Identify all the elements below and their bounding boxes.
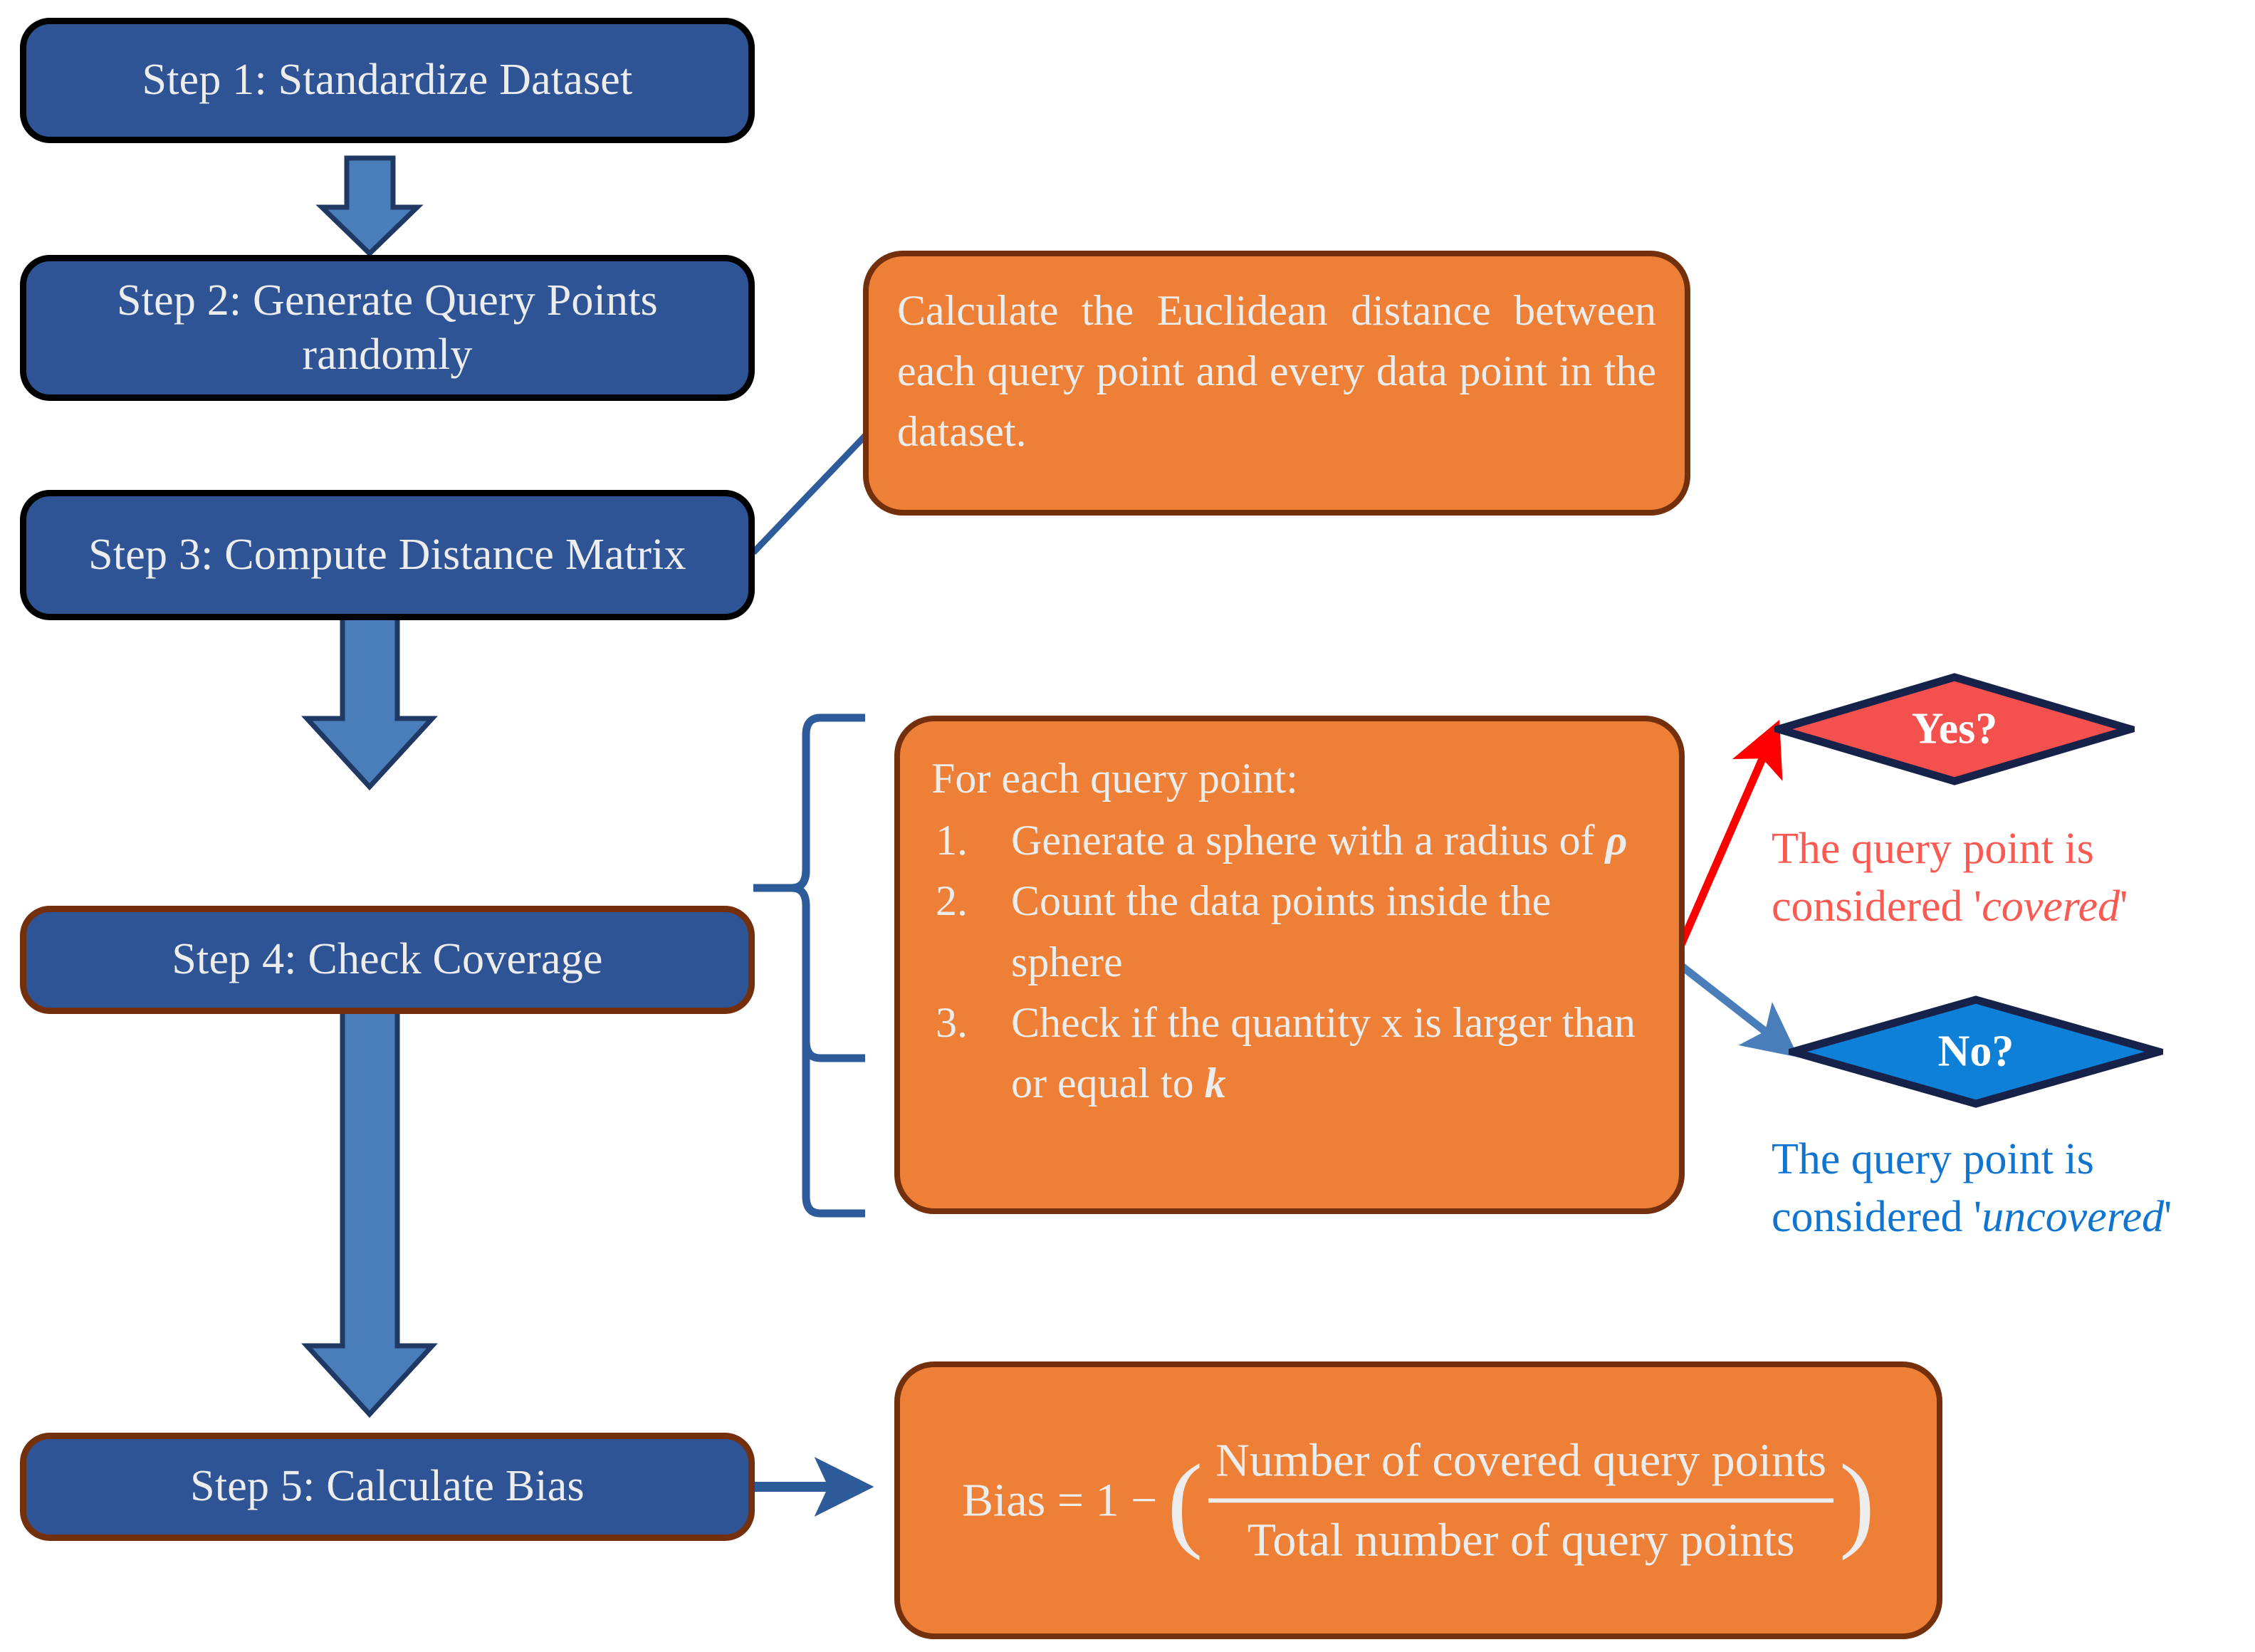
caption-yes-line2: considered 'covered' xyxy=(1772,878,2255,936)
step-5-label: Step 5: Calculate Bias xyxy=(190,1460,585,1514)
bias-formula-open-paren: ( xyxy=(1167,1470,1203,1534)
caption-no: The query point is considered 'uncovered… xyxy=(1772,1131,2255,1245)
step-3-label: Step 3: Compute Distance Matrix xyxy=(88,528,686,582)
bias-formula-close-paren: ) xyxy=(1839,1470,1875,1534)
coverage-item-2-number: 2. xyxy=(936,871,968,931)
caption-no-line2-before: considered ' xyxy=(1772,1193,1982,1241)
step-box-5[interactable]: Step 5: Calculate Bias xyxy=(20,1433,755,1541)
step-4-label: Step 4: Check Coverage xyxy=(172,933,602,987)
coverage-list-item-1: 1. Generate a sphere with a radius of ρ xyxy=(931,810,1648,871)
step-2-label: Step 2: Generate Query Points randomly xyxy=(43,274,731,382)
callout-distance-text: Calculate the Euclidean distance between… xyxy=(869,256,1685,487)
caption-no-line2-after: ' xyxy=(2164,1193,2172,1241)
step-box-3[interactable]: Step 3: Compute Distance Matrix xyxy=(20,490,755,620)
caption-yes-line2-italic: covered xyxy=(1982,882,2120,931)
bias-formula: Bias = 1 − ( Number of covered query poi… xyxy=(900,1427,1937,1573)
caption-yes-line2-before: considered ' xyxy=(1772,882,1982,931)
caption-yes: The query point is considered 'covered' xyxy=(1772,820,2255,935)
coverage-item-3-number: 3. xyxy=(936,993,968,1053)
decision-diamond-yes[interactable]: Yes? xyxy=(1774,673,2135,785)
coverage-list-item-3: 3. Check if the quantity x is larger tha… xyxy=(931,993,1648,1114)
arrow-coverage-to-no xyxy=(1675,961,1789,1050)
step-box-4[interactable]: Step 4: Check Coverage xyxy=(20,906,755,1014)
brace-step4-to-coverage-callout xyxy=(753,718,865,1213)
coverage-item-3-text: Check if the quantity x is larger than o… xyxy=(1011,999,1636,1107)
flowchart-canvas: Step 1: Standardize Dataset Step 2: Gene… xyxy=(0,0,2255,1652)
step-1-label: Step 1: Standardize Dataset xyxy=(142,53,633,108)
arrow-coverage-to-yes xyxy=(1675,731,1774,958)
callout-distance: Calculate the Euclidean distance between… xyxy=(863,251,1690,516)
callout-coverage: For each query point: 1. Generate a sphe… xyxy=(894,716,1685,1214)
decision-diamond-no[interactable]: No? xyxy=(1789,995,2163,1108)
coverage-item-2-text: Count the data points inside the sphere xyxy=(1011,877,1551,985)
step-box-1[interactable]: Step 1: Standardize Dataset xyxy=(20,18,755,143)
arrow-step4-step5 xyxy=(307,1011,432,1414)
bias-formula-denominator: Total number of query points xyxy=(1240,1502,1802,1574)
callout-coverage-list: 1. Generate a sphere with a radius of ρ … xyxy=(931,810,1648,1114)
arrow-step1-step2 xyxy=(322,158,417,253)
coverage-item-3-symbol: k xyxy=(1205,1060,1226,1107)
coverage-item-1-text: Generate a sphere with a radius of xyxy=(1011,817,1606,864)
bias-formula-numerator: Number of covered query points xyxy=(1208,1427,1833,1498)
bias-formula-lhs: Bias = 1 − xyxy=(962,1467,1167,1534)
bias-formula-fraction: Number of covered query points Total num… xyxy=(1203,1427,1839,1573)
caption-no-line2-italic: uncovered xyxy=(1982,1193,2164,1241)
step-box-2[interactable]: Step 2: Generate Query Points randomly xyxy=(20,255,755,401)
caption-no-line1: The query point is xyxy=(1772,1131,2255,1188)
connector-step3-to-distance-callout xyxy=(753,436,865,553)
caption-yes-line2-after: ' xyxy=(2120,882,2128,931)
callout-bias-formula: Bias = 1 − ( Number of covered query poi… xyxy=(894,1361,1942,1639)
coverage-list-item-2: 2. Count the data points inside the sphe… xyxy=(931,871,1648,992)
caption-no-line2: considered 'uncovered' xyxy=(1772,1188,2255,1246)
coverage-item-1-symbol: ρ xyxy=(1606,817,1628,864)
caption-yes-line1: The query point is xyxy=(1772,820,2255,878)
callout-coverage-heading: For each query point: xyxy=(931,748,1648,809)
coverage-item-1-number: 1. xyxy=(936,810,968,871)
